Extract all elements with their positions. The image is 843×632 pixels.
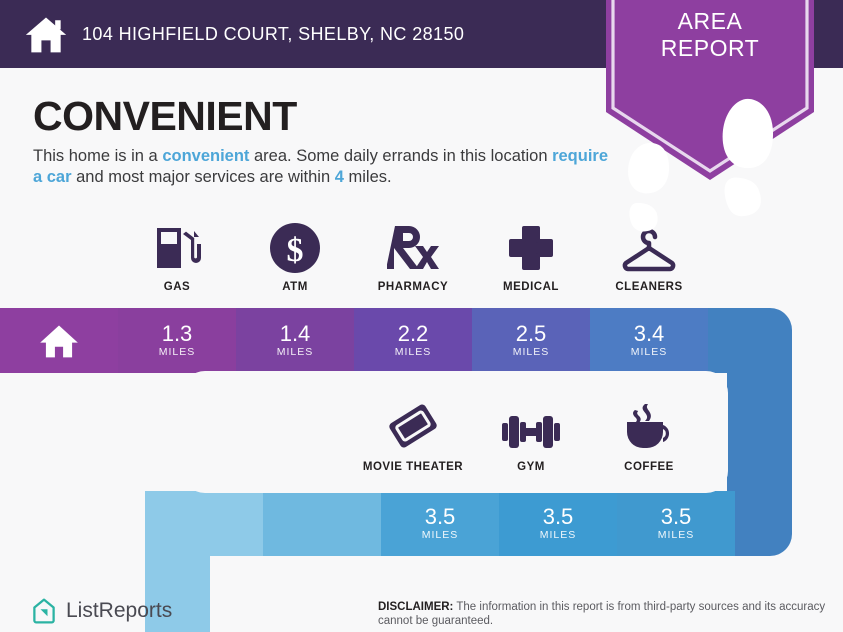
subtext-part-1: This home is in a [33,147,162,165]
icon-label-gym: GYM [517,461,545,473]
icon-cell-medical: MEDICAL [472,218,590,293]
bar-segment-movie-theater: 3.5 MILES [381,491,499,556]
icon-label-pharmacy: PHARMACY [378,281,448,293]
subtext-part-2: area. Some daily errands in this locatio… [249,147,552,165]
icon-cell-spacer-b [118,398,236,473]
bar-unit-coffee: MILES [658,529,695,542]
rx-icon [387,218,439,274]
icon-label-gas: GAS [164,281,190,293]
bar-value-gas: 1.3 [162,322,193,346]
icon-cell-atm: $ ATM [236,218,354,293]
distance-bar-row-1: 1.3 MILES 1.4 MILES 2.2 MILES 2.5 MILES … [0,308,708,373]
listreports-logo[interactable]: ListReports [30,597,172,625]
page-subtext: This home is in a convenient area. Some … [33,146,613,188]
icon-cell-gym: GYM [472,398,590,473]
bar-unit-pharmacy: MILES [395,346,432,359]
bar-unit-atm: MILES [277,346,314,359]
subtext-part-4: miles. [344,168,392,186]
bar-unit-cleaners: MILES [631,346,668,359]
bar-segment-gym: 3.5 MILES [499,491,617,556]
bar-segment-pharmacy: 2.2 MILES [354,308,472,373]
icon-label-cleaners: CLEANERS [615,281,682,293]
footsteps-icon [606,72,814,258]
icon-cell-spacer [0,218,118,293]
icon-cell-gas: GAS [118,218,236,293]
subtext-part-3: and most major services are within [72,168,335,186]
home-icon [39,323,79,359]
icon-label-atm: ATM [282,281,308,293]
services-icon-row-secondary: MOVIE THEATER GYM [0,398,843,473]
subtext-highlight-convenient: convenient [162,147,249,165]
bar-unit-movie-theater: MILES [422,529,459,542]
icon-label-coffee: COFFEE [624,461,674,473]
icon-label-medical: MEDICAL [503,281,559,293]
medical-cross-icon [507,218,555,274]
bar-segment-gas: 1.3 MILES [118,308,236,373]
bar-unit-gym: MILES [540,529,577,542]
dumbbell-icon [500,398,562,454]
home-icon [24,12,68,56]
disclaimer-label: DISCLAIMER: [378,601,453,613]
bar-value-coffee: 3.5 [661,505,692,529]
icon-cell-movie-theater: MOVIE THEATER [354,398,472,473]
bar-value-atm: 1.4 [280,322,311,346]
bar-unit-gas: MILES [159,346,196,359]
svg-text:$: $ [287,232,304,269]
icon-cell-pharmacy: PHARMACY [354,218,472,293]
area-report-badge: AREA REPORT [606,0,814,180]
bar-value-cleaners: 3.4 [634,322,665,346]
page-title: CONVENIENT [33,93,297,140]
movie-ticket-icon [384,398,442,454]
atm-dollar-icon: $ [269,218,321,274]
bar-value-pharmacy: 2.2 [398,322,429,346]
bar-segment-coffee: 3.5 MILES [617,491,735,556]
area-report-page: 104 HIGHFIELD COURT, SHELBY, NC 28150 AR… [0,0,843,632]
bar-unit-medical: MILES [513,346,550,359]
bar-segment-atm: 1.4 MILES [236,308,354,373]
bar-segment-blank-1 [145,491,263,556]
bar-home-marker [0,308,118,373]
coffee-cup-icon [621,398,677,454]
bar-value-gym: 3.5 [543,505,574,529]
bar-segment-cleaners: 3.4 MILES [590,308,708,373]
gas-pump-icon [151,218,203,274]
icon-cell-spacer-a [0,398,118,473]
subtext-highlight-miles: 4 [335,168,344,186]
header-address: 104 HIGHFIELD COURT, SHELBY, NC 28150 [82,24,464,45]
bar-segment-medical: 2.5 MILES [472,308,590,373]
icon-cell-spacer-c [236,398,354,473]
bar-value-movie-theater: 3.5 [425,505,456,529]
bar-segment-blank-2 [263,491,381,556]
icon-cell-coffee: COFFEE [590,398,708,473]
distance-bar-row-2: 3.5 MILES 3.5 MILES 3.5 MILES [145,491,735,556]
listreports-house-icon [30,597,58,625]
bar-value-medical: 2.5 [516,322,547,346]
disclaimer: DISCLAIMER: The information in this repo… [378,600,838,628]
listreports-logo-text: ListReports [66,599,172,623]
icon-label-movie-theater: MOVIE THEATER [363,461,463,473]
